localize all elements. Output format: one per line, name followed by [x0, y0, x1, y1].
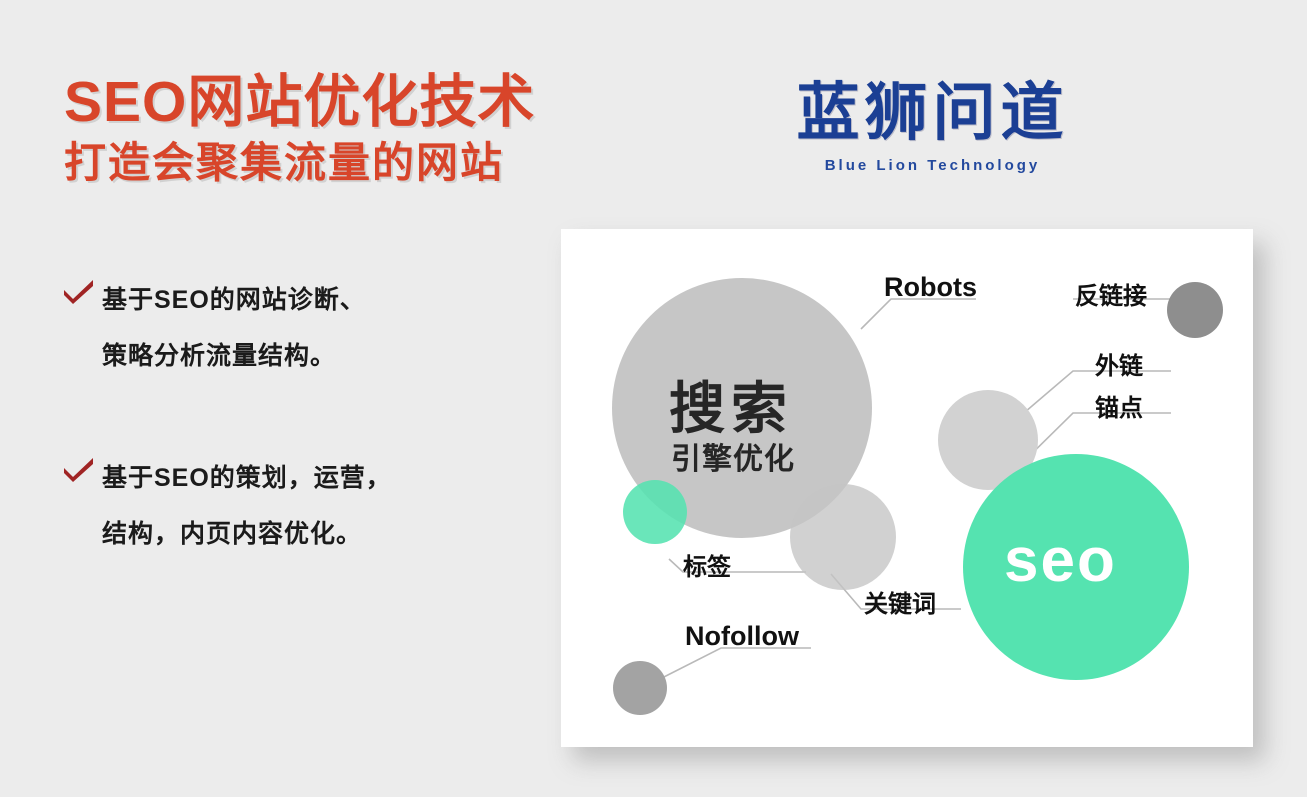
- label-backlink: 反链接: [1075, 276, 1147, 311]
- check-icon: [62, 272, 102, 304]
- list-item: 基于SEO的网站诊断、 策略分析流量结构。: [62, 272, 532, 384]
- list-item: 基于SEO的策划，运营， 结构，内页内容优化。: [62, 450, 532, 562]
- label-tag: 标签: [683, 547, 731, 582]
- feature-list: 基于SEO的网站诊断、 策略分析流量结构。 基于SEO的策划，运营， 结构，内页…: [62, 272, 532, 628]
- slide-canvas: SEO网站优化技术 打造会聚集流量的网站 蓝狮问道 Blue Lion Tech…: [0, 0, 1307, 797]
- bubble-diagram: [561, 229, 1253, 747]
- logo-english-name: Blue Lion Technology: [775, 156, 1090, 176]
- label-keyword: 关键词: [864, 584, 936, 619]
- list-item-line-2: 结构，内页内容优化。: [102, 506, 392, 562]
- list-item-text: 基于SEO的策划，运营， 结构，内页内容优化。: [102, 450, 392, 562]
- label-anchor: 锚点: [1095, 388, 1143, 423]
- bubble-nofollow: [613, 661, 667, 715]
- headline-line-2: 打造会聚集流量的网站: [64, 136, 535, 190]
- check-icon: [62, 450, 102, 482]
- brand-logo: 蓝狮问道 Blue Lion Technology: [775, 78, 1090, 176]
- headline-line-1: SEO网站优化技术: [64, 72, 535, 132]
- bubble-search-title: 搜索: [669, 364, 793, 445]
- list-item-line-1: 基于SEO的网站诊断、: [102, 272, 366, 328]
- bubble-backlink: [1167, 282, 1223, 338]
- bubble-keyword: [790, 484, 896, 590]
- list-item-line-2: 策略分析流量结构。: [102, 328, 366, 384]
- label-nofollow: Nofollow: [685, 621, 799, 652]
- bubble-seo-label: seo: [1004, 525, 1117, 596]
- label-outlink: 外链: [1095, 346, 1143, 381]
- logo-chinese-name: 蓝狮问道: [775, 78, 1090, 148]
- page-title: SEO网站优化技术 打造会聚集流量的网站: [64, 72, 535, 190]
- list-item-line-1: 基于SEO的策划，运营，: [102, 450, 392, 506]
- bubble-tag: [623, 480, 687, 544]
- bubble-search-subtitle: 引擎优化: [671, 434, 795, 478]
- diagram-card: 搜索 引擎优化 seo Robots 反链接 外链 锚点 标签 关键词 Nofo…: [561, 229, 1253, 747]
- list-item-text: 基于SEO的网站诊断、 策略分析流量结构。: [102, 272, 366, 384]
- label-robots: Robots: [884, 272, 977, 303]
